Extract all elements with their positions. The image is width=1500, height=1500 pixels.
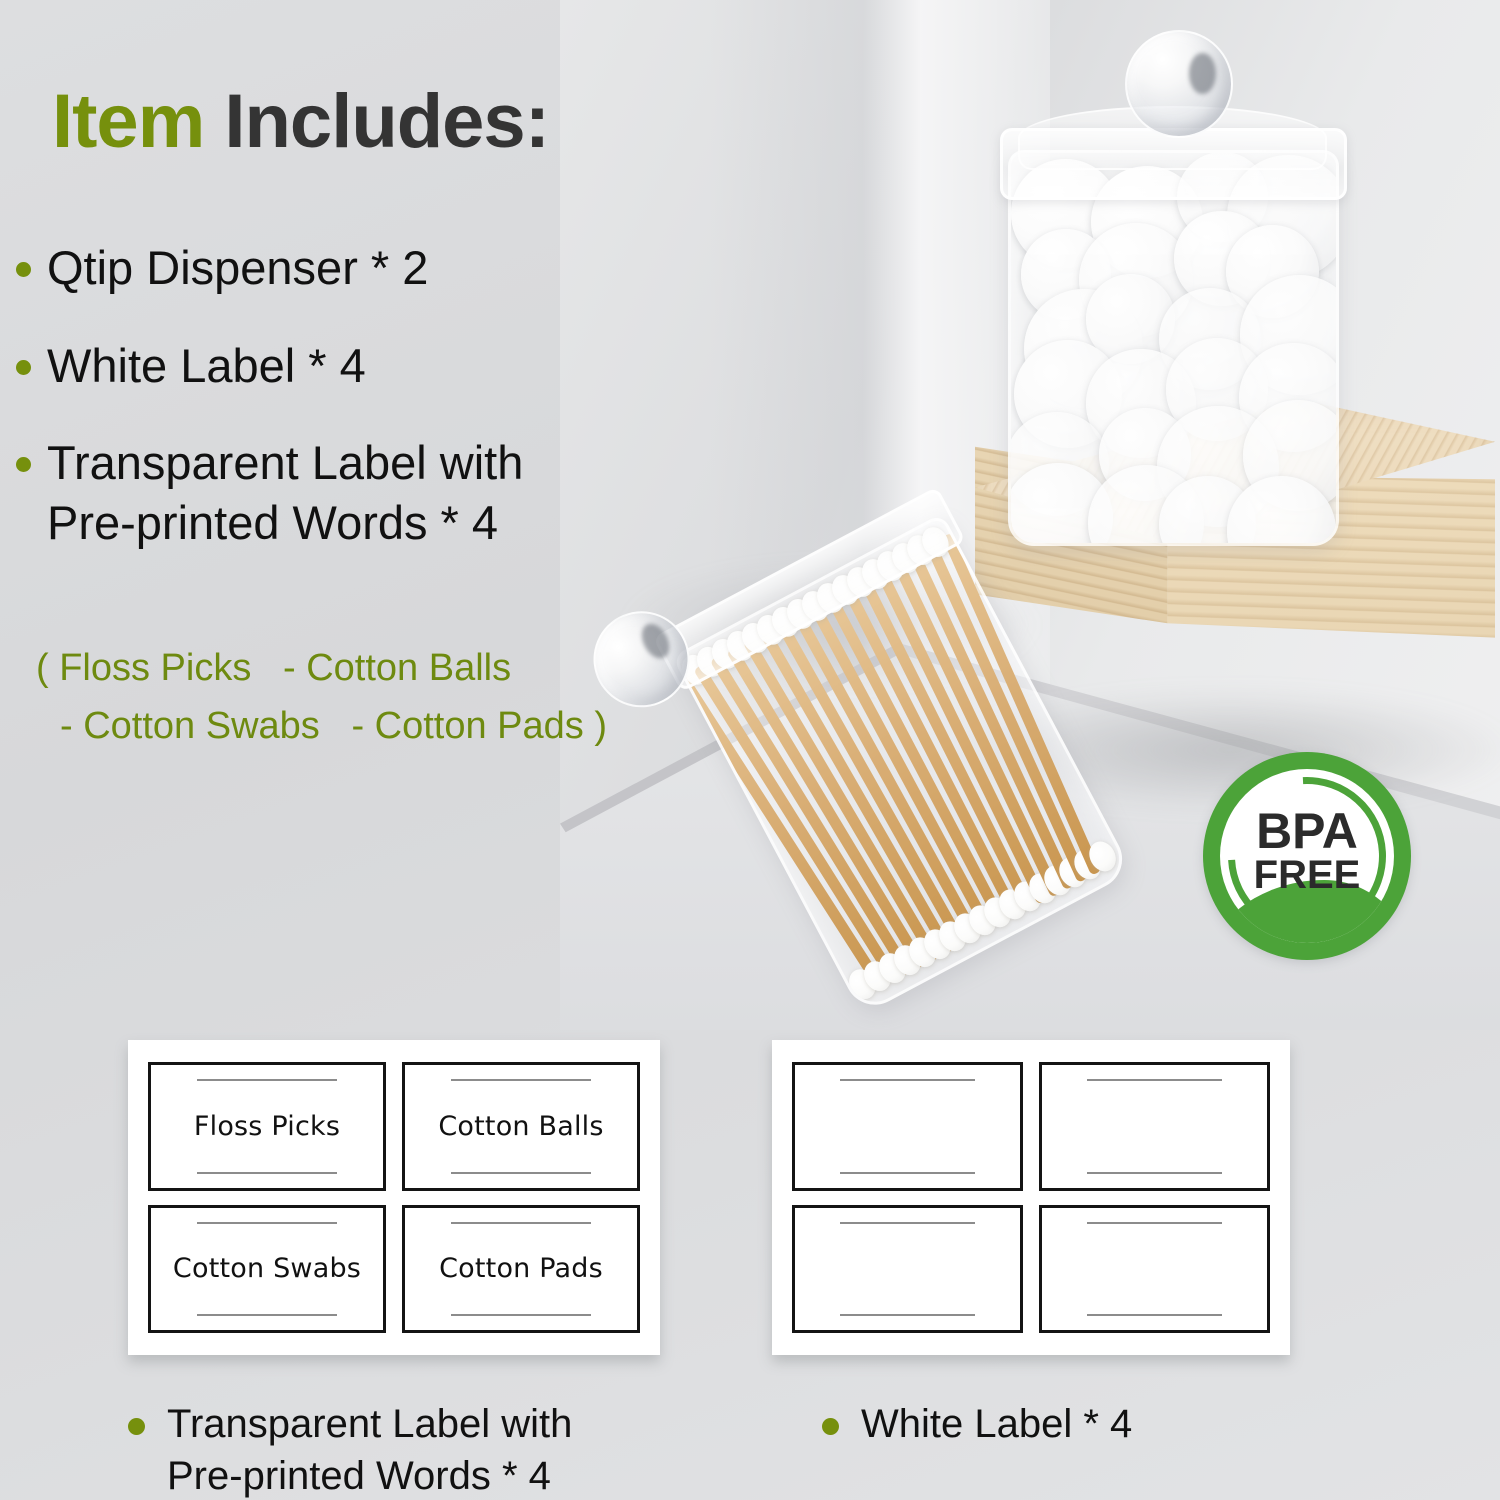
label-card [1039, 1205, 1270, 1334]
label-rule-top [197, 1222, 337, 1224]
label-rule-top [197, 1079, 337, 1081]
caption-text: White Label * 4 [861, 1398, 1132, 1450]
bullet-dot-icon [16, 262, 31, 277]
page-title-dark: Includes: [204, 79, 549, 164]
includes-list: Qtip Dispenser * 2 White Label * 4 Trans… [16, 238, 706, 591]
label-text: Cotton Swabs [173, 1253, 361, 1284]
bpa-badge-inner: BPA FREE [1220, 769, 1394, 943]
bullet-dot-icon [128, 1418, 145, 1435]
list-item: Transparent Label with Pre-printed Words… [16, 433, 706, 552]
label-rule-bottom [197, 1314, 337, 1316]
cotton-ball-jar-lid [1000, 128, 1347, 200]
label-card [792, 1062, 1023, 1191]
list-item: Qtip Dispenser * 2 [16, 238, 706, 298]
label-rule-bottom [840, 1314, 975, 1316]
preprinted-words-sublist: ( Floss Picks - Cotton Balls - Cotton Sw… [36, 640, 607, 756]
label-rule-top [840, 1079, 975, 1081]
knob-reflection-2 [637, 619, 675, 663]
label-rule-bottom [1087, 1314, 1222, 1316]
bullet-dot-icon [16, 360, 31, 375]
knob-reflection [1189, 53, 1216, 95]
bpa-badge-line-1: BPA [1220, 807, 1394, 856]
label-card: Cotton Swabs [148, 1205, 386, 1334]
white-label-caption: White Label * 4 [822, 1398, 1132, 1450]
label-rule-top [451, 1222, 591, 1224]
label-card [792, 1205, 1023, 1334]
label-rule-bottom [1087, 1172, 1222, 1174]
label-rule-top [1087, 1222, 1222, 1224]
label-card [1039, 1062, 1270, 1191]
caption-text: Transparent Label with Pre-printed Words… [167, 1398, 572, 1500]
transparent-label-sheet: Floss Picks Cotton Balls Cotton Swabs Co… [128, 1040, 660, 1355]
label-rule-top [1087, 1079, 1222, 1081]
label-rule-bottom [451, 1314, 591, 1316]
transparent-label-caption: Transparent Label with Pre-printed Words… [128, 1398, 572, 1500]
label-text: Floss Picks [194, 1111, 340, 1142]
bpa-badge-text: BPA FREE [1220, 807, 1394, 895]
label-card: Cotton Pads [402, 1205, 640, 1334]
page-title-green: Item [52, 79, 204, 164]
list-item-label: Transparent Label with Pre-printed Words… [47, 433, 523, 552]
label-card: Floss Picks [148, 1062, 386, 1191]
cotton-swab-jar-body [672, 513, 1133, 1015]
list-item: White Label * 4 [16, 336, 706, 396]
list-item-label: White Label * 4 [47, 336, 366, 396]
bpa-badge-line-2: FREE [1220, 856, 1394, 895]
bullet-dot-icon [16, 457, 31, 472]
label-card: Cotton Balls [402, 1062, 640, 1191]
list-item-label: Qtip Dispenser * 2 [47, 238, 428, 298]
white-label-sheet [772, 1040, 1290, 1355]
cotton-ball-jar-knob [1125, 30, 1233, 138]
bpa-free-badge: BPA FREE [1203, 752, 1411, 960]
label-rule-bottom [197, 1172, 337, 1174]
bullet-dot-icon [822, 1418, 839, 1435]
label-text: Cotton Pads [439, 1253, 603, 1284]
label-rule-top [840, 1222, 975, 1224]
label-rule-bottom [840, 1172, 975, 1174]
label-rule-bottom [451, 1172, 591, 1174]
label-text: Cotton Balls [438, 1111, 603, 1142]
page-title: Item Includes: [52, 78, 549, 165]
sublist-line-2: - Cotton Swabs - Cotton Pads ) [36, 698, 607, 756]
label-rule-top [451, 1079, 591, 1081]
product-infographic: Item Includes: Qtip Dispenser * 2 White … [0, 0, 1500, 1500]
sublist-line-1: ( Floss Picks - Cotton Balls [36, 640, 607, 698]
